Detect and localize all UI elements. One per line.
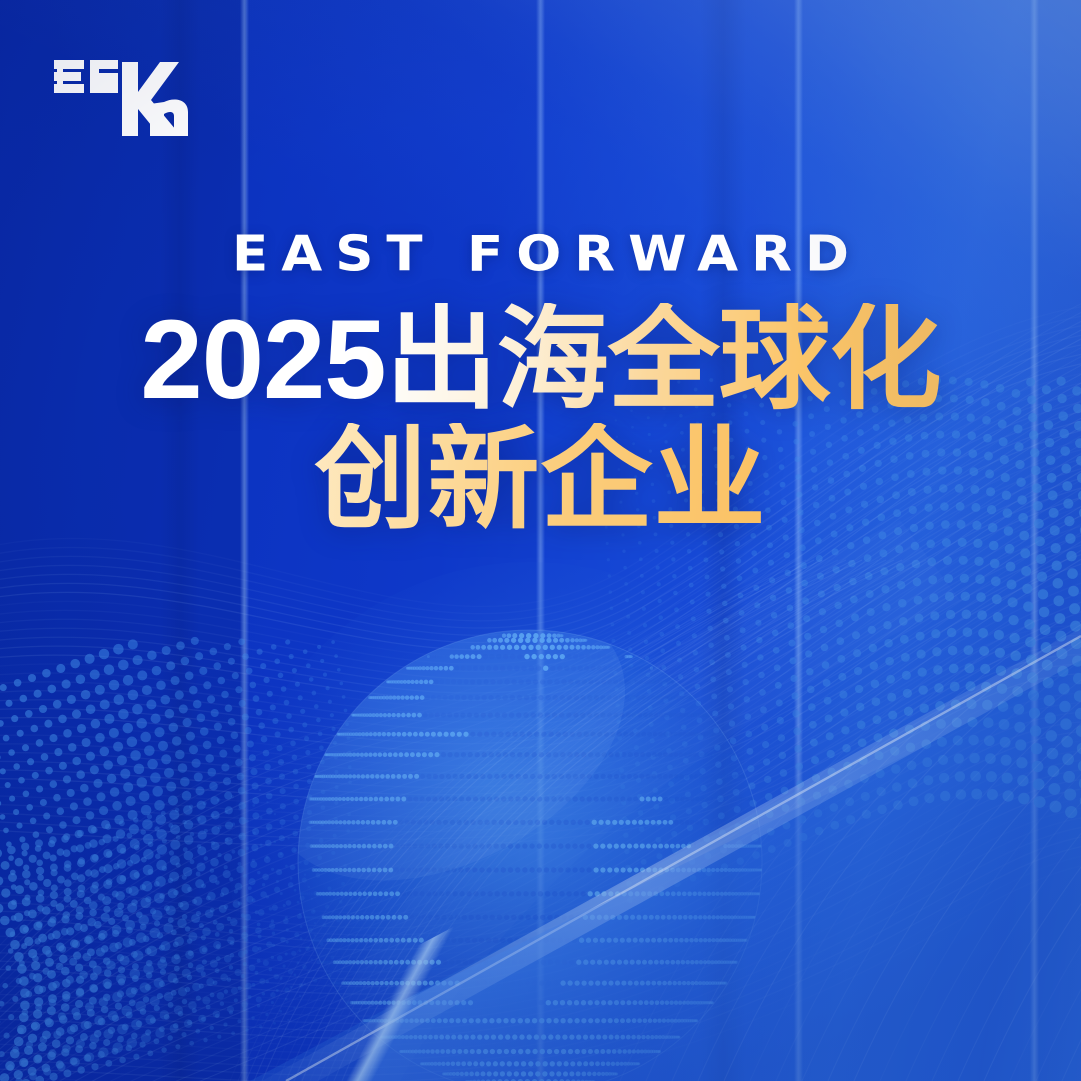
poster-canvas: EAST FORWARD 2025出海全球化 创新企业 [0, 0, 1081, 1081]
light-streak-bottom-right [250, 628, 1081, 1081]
eyebrow-text: EAST FORWARD [0, 230, 1081, 279]
background-panel-1 [0, 0, 246, 1081]
logo-36kr-icon [48, 52, 188, 144]
brand-logo-36kr[interactable] [48, 52, 188, 144]
title-line-2: 创新企业 [0, 423, 1081, 537]
dotted-globe [224, 547, 830, 1081]
panel-shadow-1 [160, 0, 200, 1081]
background-panel-5 [1035, 0, 1081, 1081]
background-panel-4 [800, 0, 1035, 1081]
headline-block: EAST FORWARD 2025出海全球化 创新企业 [0, 228, 1081, 537]
panel-divider-4 [1030, 0, 1039, 1081]
title-line-1: 2025出海全球化 [0, 303, 1081, 417]
dot-field-left [0, 637, 352, 1081]
arc-lines-bottom-right [620, 620, 1081, 1081]
panel-divider-1 [240, 0, 249, 1081]
panel-divider-3 [794, 0, 803, 1081]
globe-sheen [230, 520, 960, 1081]
